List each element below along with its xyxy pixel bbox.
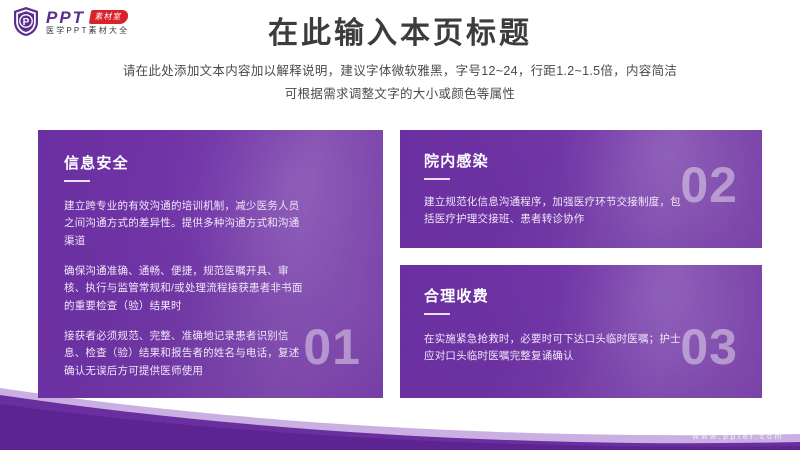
card-content: 信息安全 建立跨专业的有效沟通的培训机制，减少医务人员之间沟通方式的差异性。提供… <box>38 130 383 398</box>
card-paragraph: 建立跨专业的有效沟通的培训机制，减少医务人员之间沟通方式的差异性。提供多种沟通方… <box>64 198 304 250</box>
card-paragraph: 建立规范化信息沟通程序，加强医疗环节交接制度，包括医疗护理交接班、患者转诊协作 <box>424 194 686 229</box>
card-content: 院内感染 建立规范化信息沟通程序，加强医疗环节交接制度，包括医疗护理交接班、患者… <box>400 130 762 248</box>
card-paragraph: 接获者必须规范、完整、准确地记录患者识别信息、检查（验）结果和报告者的姓名与电话… <box>64 328 304 380</box>
card-number-badge: 01 <box>303 322 361 372</box>
card-content: 合理收费 在实施紧急抢救时，必要时可下达口头临时医嘱；护士应对口头临时医嘱完整复… <box>400 265 762 398</box>
card-title-underline <box>424 178 450 180</box>
card-paragraph: 确保沟通准确、通畅、便捷，规范医嘱开具、审核、执行与监管常规和/或处理流程接获患… <box>64 263 304 315</box>
subtitle-line-1: 请在此处添加文本内容加以解释说明，建议字体微软雅黑，字号12~24，行距1.2~… <box>0 60 800 83</box>
card-information-security[interactable]: 信息安全 建立跨专业的有效沟通的培训机制，减少医务人员之间沟通方式的差异性。提供… <box>38 130 383 398</box>
card-number-badge: 02 <box>680 160 738 210</box>
card-title-underline <box>64 180 90 182</box>
card-number-badge: 03 <box>680 322 738 372</box>
page-subtitle: 请在此处添加文本内容加以解释说明，建议字体微软雅黑，字号12~24，行距1.2~… <box>0 60 800 106</box>
slide-root: P PPT 素材室 医学PPT素材大全 在此输入本页标题 请在此处添加文本内容加… <box>0 0 800 450</box>
card-paragraph-list: 建立跨专业的有效沟通的培训机制，减少医务人员之间沟通方式的差异性。提供多种沟通方… <box>64 198 304 380</box>
subtitle-line-2: 可根据需求调整文字的大小或颜色等属性 <box>0 83 800 106</box>
footer-website-url: www.ppter.com <box>693 431 784 441</box>
card-title-underline <box>424 313 450 315</box>
page-title: 在此输入本页标题 <box>0 14 800 53</box>
card-title: 信息安全 <box>64 152 357 173</box>
card-paragraph: 在实施紧急抢救时，必要时可下达口头临时医嘱；护士应对口头临时医嘱完整复诵确认 <box>424 331 686 366</box>
card-hospital-infection[interactable]: 院内感染 建立规范化信息沟通程序，加强医疗环节交接制度，包括医疗护理交接班、患者… <box>400 130 762 248</box>
card-title: 合理收费 <box>424 285 738 306</box>
card-reasonable-charges[interactable]: 合理收费 在实施紧急抢救时，必要时可下达口头临时医嘱；护士应对口头临时医嘱完整复… <box>400 265 762 398</box>
